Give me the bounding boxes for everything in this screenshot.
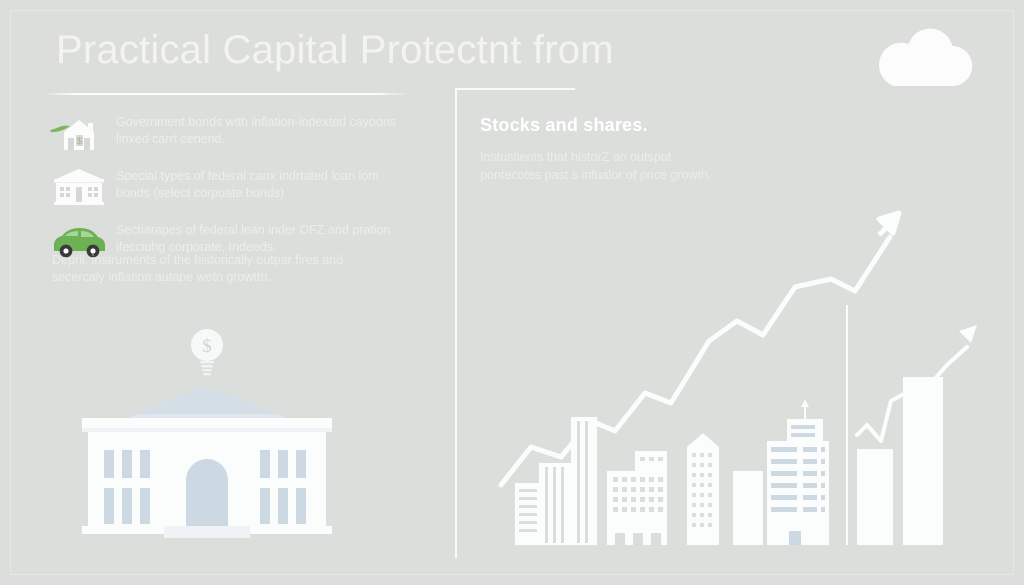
bank-building-illustration: $ (60, 330, 350, 545)
building-7 (767, 441, 829, 545)
column-divider-rule (455, 88, 457, 558)
growth-line-main (501, 237, 890, 485)
page-title: Practical Capital Protectnt from (56, 24, 856, 76)
svg-text:$: $ (202, 336, 212, 357)
list-item-label: Sectiarapes of federal lean inder OFZ an… (116, 220, 408, 256)
bar-left (857, 449, 893, 545)
growth-chart-illustration (495, 195, 995, 550)
column-divider-cap (455, 88, 575, 90)
list-item-label: Special types of federal canx indrtated … (116, 166, 408, 202)
building-6 (733, 471, 763, 545)
list-item-label: Government bonds with inflation-indexted… (116, 112, 408, 148)
svg-text:$: $ (77, 136, 82, 146)
bank-building-icon (48, 166, 110, 206)
building-4 (607, 471, 667, 545)
left-divider-rule (48, 93, 404, 95)
house-dollar-icon: $ (48, 112, 110, 152)
building-1 (515, 483, 541, 545)
left-feature-list: $ Government bonds with inflation-indext… (48, 112, 408, 274)
right-column-body: Instustients that historZ ao outspot pon… (480, 148, 730, 184)
left-column-paragraph: Depril, instruments of the historically … (52, 252, 392, 286)
infographic-canvas: Practical Capital Protectnt from $ (0, 0, 1024, 585)
right-column-heading: Stocks and shares. (480, 115, 648, 136)
list-item: Special types of federal canx indrtated … (48, 166, 408, 206)
cloud-icon (872, 36, 974, 88)
city-skyline (515, 399, 829, 545)
dollar-lightbulb-icon: $ (191, 329, 223, 375)
building-3 (571, 417, 597, 545)
growth-line-secondary (857, 347, 967, 441)
growth-line-arrowhead (879, 213, 899, 235)
list-item: $ Government bonds with inflation-indext… (48, 112, 408, 152)
growth-line-secondary-arrowhead (959, 325, 977, 343)
building-5 (687, 433, 719, 545)
building-2 (539, 463, 573, 545)
bar-right (903, 377, 943, 545)
